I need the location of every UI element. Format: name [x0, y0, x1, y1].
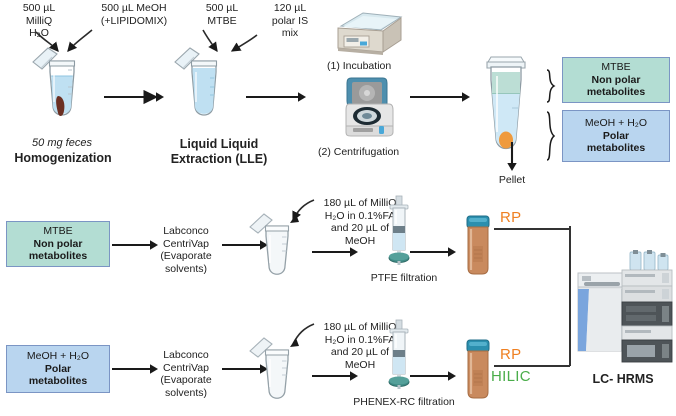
centrifugation-label: (2) Centrifugation — [318, 146, 424, 159]
centrifuge-icon — [343, 76, 401, 144]
arrow-right-icon-tube-to-filter-nonpolar — [312, 245, 360, 259]
filtration-label-ptfe: PTFE filtration — [356, 272, 452, 285]
lc-stack-icon — [618, 250, 676, 366]
channel-label-hilic-polar: HILIC — [491, 368, 531, 385]
instrument-label-lc-hrms: LC- HRMS — [570, 372, 676, 387]
arrow-right-icon-centrifuge-to-phases — [410, 90, 472, 104]
step-title-lle: Liquid Liquid Extraction (LLE) — [160, 137, 278, 166]
water-bath-incubator-icon — [333, 10, 405, 58]
phase-box-non-polar: MTBENon polarmetabolites — [562, 57, 670, 103]
fraction-box-polar-text: MeOH + H₂OPolarmetabolites — [27, 350, 89, 388]
channel-line-rp-nonpolar — [494, 226, 574, 232]
channel-label-rp-polar: RP — [500, 346, 521, 363]
channel-label-rp-nonpolar: RP — [500, 209, 521, 226]
evaporation-label-polar: Labconco CentriVap (Evaporate solvents) — [152, 349, 220, 399]
arrow-right-icon-filter-to-vial-polar — [410, 369, 458, 383]
sample-amount-label: 50 mg feces — [22, 137, 102, 150]
step-title-homogenization: Homogenization — [8, 151, 118, 166]
arrow-down-icon-pellet — [505, 142, 519, 174]
arrow-right-icon-tube-to-filter-polar — [312, 369, 360, 383]
arrow-right-icon-lle-to-incubation — [246, 90, 308, 104]
phase-box-non-polar-text: MTBENon polarmetabolites — [587, 61, 645, 99]
curly-brace-icon-phases — [544, 60, 560, 170]
phase-box-polar-text: MeOH + H₂OPolarmetabolites — [585, 117, 647, 155]
microtube-icon-lle — [172, 44, 236, 136]
arrow-right-icon-filter-to-vial-nonpolar — [410, 245, 458, 259]
arrow-right-icon-homogenization-to-lle — [104, 90, 166, 104]
hplc-vial-icon-nonpolar — [462, 216, 496, 280]
phase-box-polar: MeOH + H₂OPolarmetabolites — [562, 110, 670, 162]
evaporation-label-nonpolar: Labconco CentriVap (Evaporate solvents) — [152, 225, 220, 275]
fraction-box-non-polar-text: MTBENon polarmetabolites — [29, 225, 87, 263]
filtration-label-phenex-rc: PHENEX-RC filtration — [334, 396, 474, 409]
pellet-label: Pellet — [484, 174, 540, 187]
fraction-box-polar: MeOH + H₂OPolarmetabolites — [6, 345, 110, 393]
workflow-diagram: 500 µL MilliQ H₂O 500 µL MeOH (+LIPIDOMI… — [0, 0, 676, 416]
incubation-label: (1) Incubation — [327, 60, 413, 73]
microtube-icon-homogenization — [30, 44, 94, 136]
fraction-box-non-polar: MTBENon polarmetabolites — [6, 221, 110, 267]
